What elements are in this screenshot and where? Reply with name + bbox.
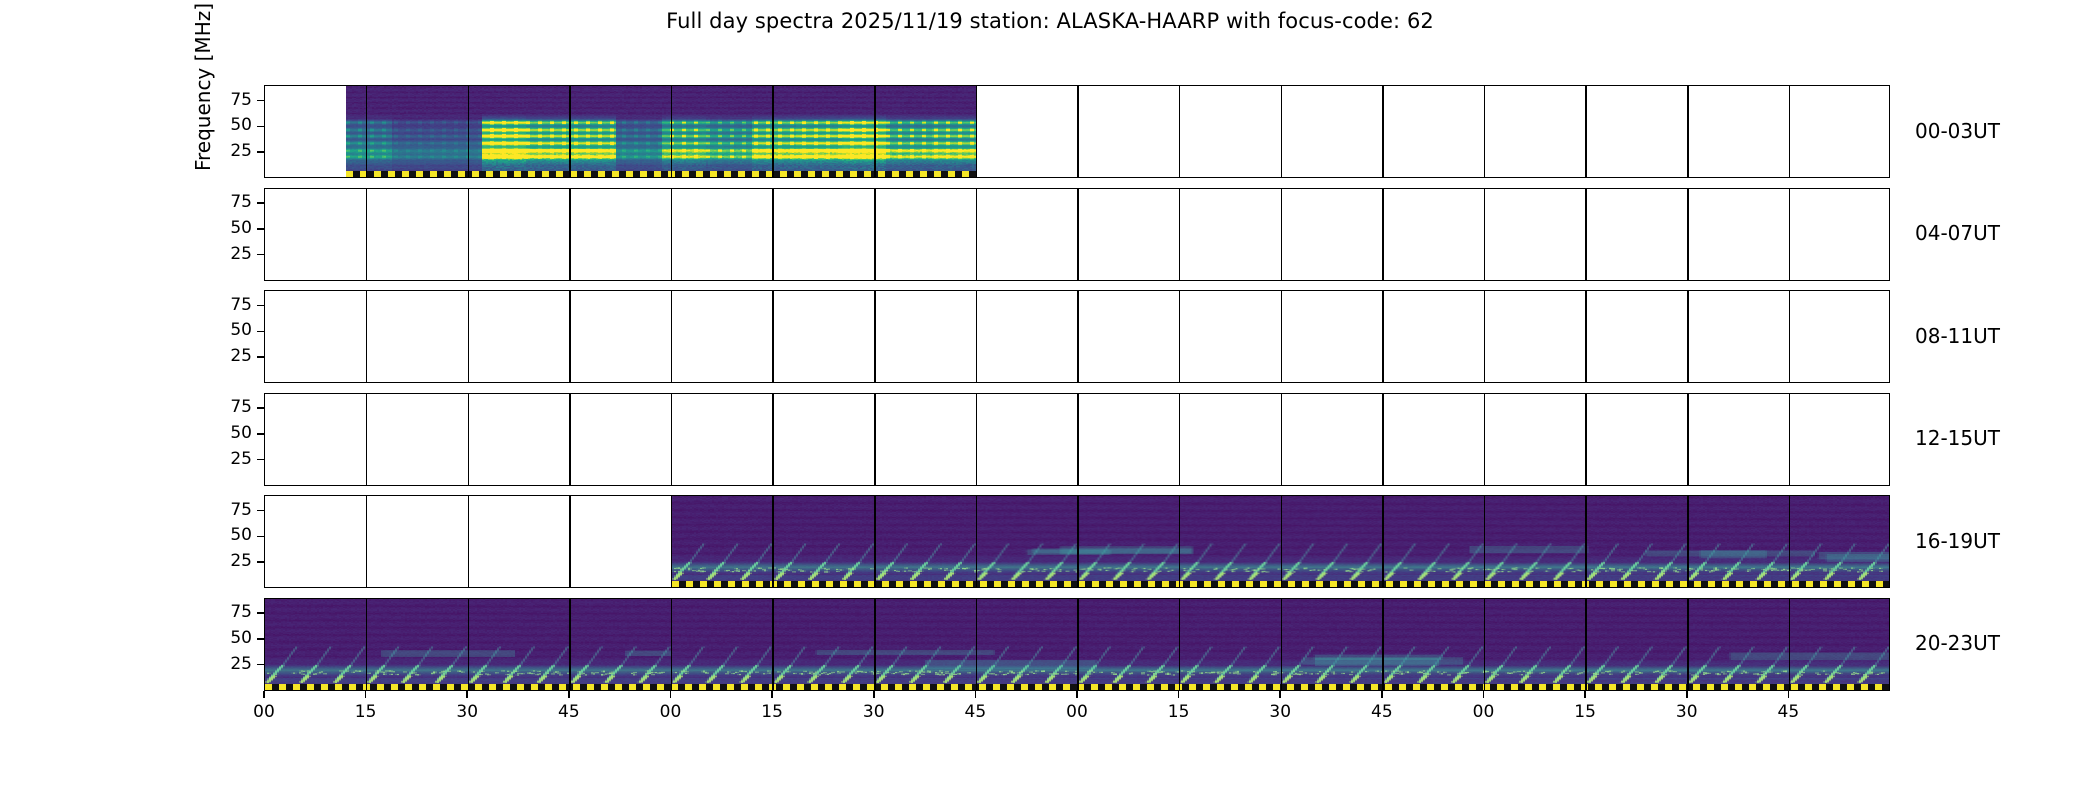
panel-gridline [1179, 599, 1181, 690]
panel-gridline [1382, 394, 1384, 485]
panel-gridline [1281, 189, 1283, 280]
spectrogram-row: 25507512-15UT [0, 393, 2100, 486]
panel-gridline [671, 496, 673, 587]
panel-gridline [772, 291, 774, 382]
x-tick-label: 15 [1149, 702, 1209, 722]
panel-gridline [366, 189, 368, 280]
panel-gridline [1687, 599, 1689, 690]
panel-gridline [1077, 291, 1079, 382]
y-tick-mark [257, 561, 264, 563]
panel-time-label: 08-11UT [1915, 324, 2000, 348]
panel-gridline [1585, 394, 1587, 485]
panel-gridline [1077, 599, 1079, 690]
y-tick-mark [257, 151, 264, 153]
y-tick-mark [257, 664, 264, 666]
x-tick-label: 00 [1454, 702, 1514, 722]
panel-time-label: 16-19UT [1915, 529, 2000, 553]
panel-gridline [1585, 291, 1587, 382]
panel-gridline [569, 394, 571, 485]
panel-gridline [772, 599, 774, 690]
panel-gridline [366, 86, 368, 177]
panel-time-label: 12-15UT [1915, 426, 2000, 450]
panel-gridline [366, 394, 368, 485]
y-tick-label: 50 [208, 525, 252, 545]
x-tick-label: 15 [742, 702, 802, 722]
panel-gridline [976, 189, 978, 280]
spectrogram-panel[interactable] [264, 188, 1890, 281]
x-tick-label: 00 [641, 702, 701, 722]
panel-gridline [1687, 496, 1689, 587]
x-tick-label: 45 [1352, 702, 1412, 722]
y-tick-mark [257, 254, 264, 256]
panel-gridline [874, 86, 876, 177]
panel-gridline [1585, 496, 1587, 587]
panel-gridline [1382, 599, 1384, 690]
y-tick-label: 25 [208, 346, 252, 366]
panel-gridline [1281, 291, 1283, 382]
y-tick-label: 75 [208, 192, 252, 212]
panel-gridline [1077, 394, 1079, 485]
panel-gridline [1789, 599, 1791, 690]
x-tick-label: 30 [1657, 702, 1717, 722]
x-tick-mark [365, 691, 367, 698]
panel-gridline [366, 496, 368, 587]
panel-gridline [1382, 496, 1384, 587]
panel-gridline [874, 291, 876, 382]
x-tick-mark [1381, 691, 1383, 698]
y-tick-label: 75 [208, 295, 252, 315]
panel-gridline [468, 394, 470, 485]
spectrogram-row: 25507520-23UT [0, 598, 2100, 691]
x-tick-mark [263, 691, 265, 698]
x-tick-label: 15 [336, 702, 396, 722]
panel-gridline [671, 189, 673, 280]
panel-gridline [976, 599, 978, 690]
y-tick-mark [257, 536, 264, 538]
panel-gridline [569, 599, 571, 690]
spectrogram-panel[interactable] [264, 290, 1890, 383]
y-tick-label: 75 [208, 602, 252, 622]
panel-gridline [1179, 496, 1181, 587]
x-tick-mark [771, 691, 773, 698]
y-tick-mark [257, 638, 264, 640]
x-tick-label: 30 [844, 702, 904, 722]
panel-gridline [1789, 496, 1791, 587]
panel-gridline [1484, 496, 1486, 587]
spectrogram-panel[interactable] [264, 495, 1890, 588]
panel-gridline [1281, 599, 1283, 690]
panel-time-label: 04-07UT [1915, 221, 2000, 245]
y-tick-label: 25 [208, 654, 252, 674]
y-tick-mark [257, 202, 264, 204]
y-tick-label: 25 [208, 551, 252, 571]
y-tick-label: 25 [208, 244, 252, 264]
panel-gridline [671, 394, 673, 485]
panel-gridline [671, 599, 673, 690]
spectra-figure: Full day spectra 2025/11/19 station: ALA… [0, 0, 2100, 800]
panel-gridline [976, 86, 978, 177]
panel-gridline [874, 599, 876, 690]
y-tick-mark [257, 407, 264, 409]
y-tick-label: 25 [208, 449, 252, 469]
x-tick-mark [873, 691, 875, 698]
y-tick-mark [257, 100, 264, 102]
y-tick-mark [257, 510, 264, 512]
panel-gridline [1687, 394, 1689, 485]
panel-gridline [1687, 291, 1689, 382]
x-tick-label: 45 [945, 702, 1005, 722]
panel-gridline [772, 189, 774, 280]
y-tick-label: 50 [208, 218, 252, 238]
x-tick-label: 00 [1047, 702, 1107, 722]
panel-gridline [1382, 86, 1384, 177]
y-tick-mark [257, 331, 264, 333]
panel-gridline [874, 189, 876, 280]
x-tick-label: 00 [234, 702, 294, 722]
spectrogram-row: 25507500-03UT [0, 85, 2100, 178]
spectrogram-panel[interactable] [264, 393, 1890, 486]
x-tick-label: 30 [437, 702, 497, 722]
panel-gridline [772, 496, 774, 587]
panel-gridline [366, 291, 368, 382]
x-tick-label: 45 [1758, 702, 1818, 722]
panel-time-label: 00-03UT [1915, 119, 2000, 143]
y-tick-mark [257, 356, 264, 358]
panel-gridline [1484, 86, 1486, 177]
y-tick-mark [257, 305, 264, 307]
panel-gridline [468, 496, 470, 587]
panel-gridline [1789, 189, 1791, 280]
panel-gridline [1789, 291, 1791, 382]
y-tick-label: 50 [208, 423, 252, 443]
panel-gridline [1484, 599, 1486, 690]
panel-gridline [1281, 86, 1283, 177]
spectrogram-row: 25507516-19UT [0, 495, 2100, 588]
panel-gridline [468, 189, 470, 280]
y-tick-label: 50 [208, 115, 252, 135]
x-tick-mark [1686, 691, 1688, 698]
y-tick-label: 75 [208, 397, 252, 417]
panel-gridline [1077, 86, 1079, 177]
panel-gridline [1687, 86, 1689, 177]
panel-gridline [1077, 496, 1079, 587]
panel-gridline [468, 291, 470, 382]
y-tick-mark [257, 126, 264, 128]
x-tick-mark [1584, 691, 1586, 698]
panel-gridline [468, 86, 470, 177]
x-tick-mark [466, 691, 468, 698]
y-tick-mark [257, 459, 264, 461]
panel-gridline [1382, 189, 1384, 280]
spectrogram-image [346, 86, 976, 177]
x-tick-label: 30 [1250, 702, 1310, 722]
panel-gridline [1789, 86, 1791, 177]
y-tick-mark [257, 612, 264, 614]
panel-gridline [1281, 394, 1283, 485]
figure-title: Full day spectra 2025/11/19 station: ALA… [0, 9, 2100, 33]
panel-gridline [1789, 394, 1791, 485]
panel-gridline [569, 189, 571, 280]
panel-gridline [976, 496, 978, 587]
panel-gridline [1179, 189, 1181, 280]
x-tick-label: 15 [1555, 702, 1615, 722]
panel-gridline [1484, 394, 1486, 485]
panel-gridline [1585, 599, 1587, 690]
panel-gridline [671, 86, 673, 177]
panel-gridline [1179, 291, 1181, 382]
panel-time-label: 20-23UT [1915, 631, 2000, 655]
panel-gridline [1585, 86, 1587, 177]
x-tick-mark [670, 691, 672, 698]
spectrogram-panel[interactable] [264, 598, 1890, 691]
panel-gridline [1585, 189, 1587, 280]
x-tick-mark [1076, 691, 1078, 698]
panel-gridline [976, 291, 978, 382]
x-tick-mark [1279, 691, 1281, 698]
panel-gridline [1281, 496, 1283, 587]
panel-gridline [1382, 291, 1384, 382]
panel-gridline [1484, 189, 1486, 280]
panel-gridline [772, 394, 774, 485]
x-tick-mark [568, 691, 570, 698]
y-tick-label: 25 [208, 141, 252, 161]
panel-gridline [1077, 189, 1079, 280]
panel-gridline [1179, 394, 1181, 485]
panel-gridline [569, 291, 571, 382]
panel-gridline [569, 86, 571, 177]
y-tick-label: 50 [208, 628, 252, 648]
y-tick-mark [257, 433, 264, 435]
spectrogram-row: 25507504-07UT [0, 188, 2100, 281]
panel-gridline [874, 496, 876, 587]
spectrogram-panel[interactable] [264, 85, 1890, 178]
panel-gridline [468, 599, 470, 690]
x-tick-mark [1178, 691, 1180, 698]
panel-gridline [976, 394, 978, 485]
x-tick-mark [975, 691, 977, 698]
panel-gridline [366, 599, 368, 690]
x-tick-label: 45 [539, 702, 599, 722]
panel-gridline [1179, 86, 1181, 177]
y-tick-label: 75 [208, 90, 252, 110]
y-tick-label: 75 [208, 500, 252, 520]
y-tick-label: 50 [208, 320, 252, 340]
data-availability-strip [346, 171, 976, 177]
panel-gridline [671, 291, 673, 382]
y-tick-mark [257, 228, 264, 230]
panel-gridline [1484, 291, 1486, 382]
x-tick-mark [1483, 691, 1485, 698]
spectrogram-row: 25507508-11UT [0, 290, 2100, 383]
panel-gridline [569, 496, 571, 587]
x-tick-mark [1788, 691, 1790, 698]
panel-gridline [1687, 189, 1689, 280]
panel-gridline [772, 86, 774, 177]
panel-gridline [874, 394, 876, 485]
